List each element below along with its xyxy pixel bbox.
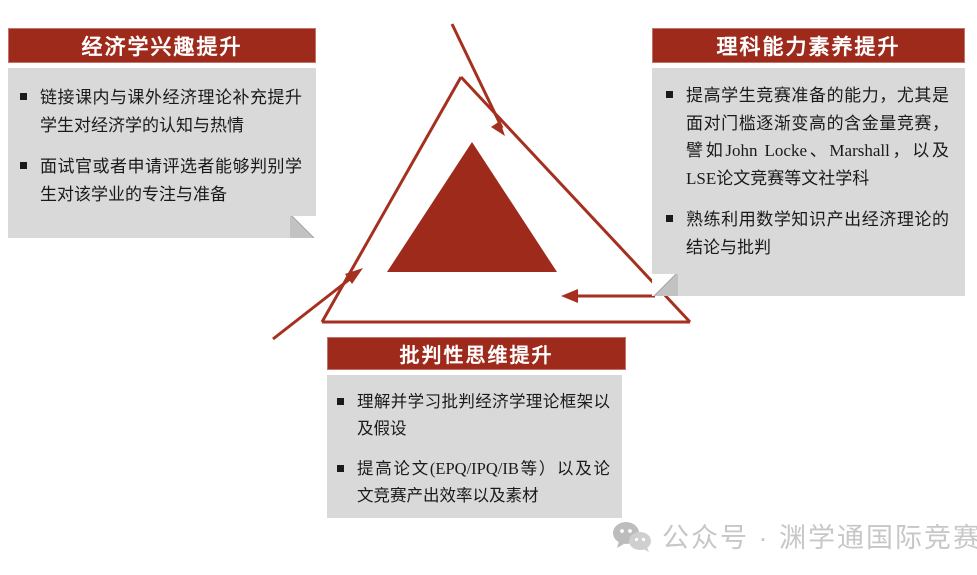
panel-right-bullet-list: 提高学生竞赛准备的能力，尤其是面对门槛逐渐变高的含金量竞赛，譬如John Loc…	[664, 82, 949, 261]
arrow-top-right	[452, 24, 505, 136]
panel-bottom-bullet-list: 理解并学习批判经济学理论框架以及假设 提高论文(EPQ/IPQ/IB等）以及论文…	[335, 389, 610, 510]
bullet-text: 理解并学习批判经济学理论框架以及假设	[357, 392, 610, 438]
square-bullet-icon	[337, 465, 344, 472]
center-filled-triangle	[387, 142, 557, 272]
square-bullet-icon	[20, 93, 27, 100]
list-item: 链接课内与课外经济理论补充提升学生对经济学的认知与热情	[18, 84, 302, 139]
bullet-text: 提高论文(EPQ/IPQ/IB等）以及论文竞赛产出效率以及素材	[357, 459, 610, 505]
watermark-text: 公众号 · 渊学通国际竞赛	[662, 516, 977, 555]
panel-right-title: 理科能力素养提升	[652, 28, 965, 63]
square-bullet-icon	[666, 215, 673, 222]
bullet-text: 提高学生竞赛准备的能力，尤其是面对门槛逐渐变高的含金量竞赛，譬如John Loc…	[686, 86, 949, 188]
watermark: 公众号 · 渊学通国际竞赛	[612, 516, 977, 555]
panel-bottom-title: 批判性思维提升	[327, 337, 626, 370]
corner-fold-icon	[290, 216, 316, 238]
bullet-text: 面试官或者申请评选者能够判别学生对该学业的专注与准备	[40, 157, 302, 204]
square-bullet-icon	[20, 162, 27, 169]
panel-left-body: 链接课内与课外经济理论补充提升学生对经济学的认知与热情 面试官或者申请评选者能够…	[8, 68, 316, 238]
square-bullet-icon	[666, 91, 673, 98]
outline-left-edge	[322, 77, 461, 322]
square-bullet-icon	[337, 398, 344, 405]
list-item: 提高论文(EPQ/IPQ/IB等）以及论文竞赛产出效率以及素材	[335, 456, 610, 509]
list-item: 面试官或者申请评选者能够判别学生对该学业的专注与准备	[18, 153, 302, 208]
panel-right-body: 提高学生竞赛准备的能力，尤其是面对门槛逐渐变高的含金量竞赛，譬如John Loc…	[652, 68, 965, 296]
panel-left-title: 经济学兴趣提升	[8, 28, 316, 63]
bullet-text: 链接课内与课外经济理论补充提升学生对经济学的认知与热情	[40, 88, 302, 135]
list-item: 熟练利用数学知识产出经济理论的结论与批判	[664, 206, 949, 261]
corner-fold-icon	[652, 274, 678, 296]
wechat-icon	[612, 520, 652, 552]
list-item: 提高学生竞赛准备的能力，尤其是面对门槛逐渐变高的含金量竞赛，譬如John Loc…	[664, 82, 949, 192]
list-item: 理解并学习批判经济学理论框架以及假设	[335, 389, 610, 442]
panel-left-bullet-list: 链接课内与课外经济理论补充提升学生对经济学的认知与热情 面试官或者申请评选者能够…	[18, 84, 302, 208]
arrow-right-left	[561, 289, 655, 303]
arrow-bottom-left	[273, 268, 363, 339]
panel-bottom-body: 理解并学习批判经济学理论框架以及假设 提高论文(EPQ/IPQ/IB等）以及论文…	[327, 375, 622, 518]
slide-canvas: 经济学兴趣提升 链接课内与课外经济理论补充提升学生对经济学的认知与热情 面试官或…	[0, 0, 977, 575]
bullet-text: 熟练利用数学知识产出经济理论的结论与批判	[686, 210, 949, 257]
